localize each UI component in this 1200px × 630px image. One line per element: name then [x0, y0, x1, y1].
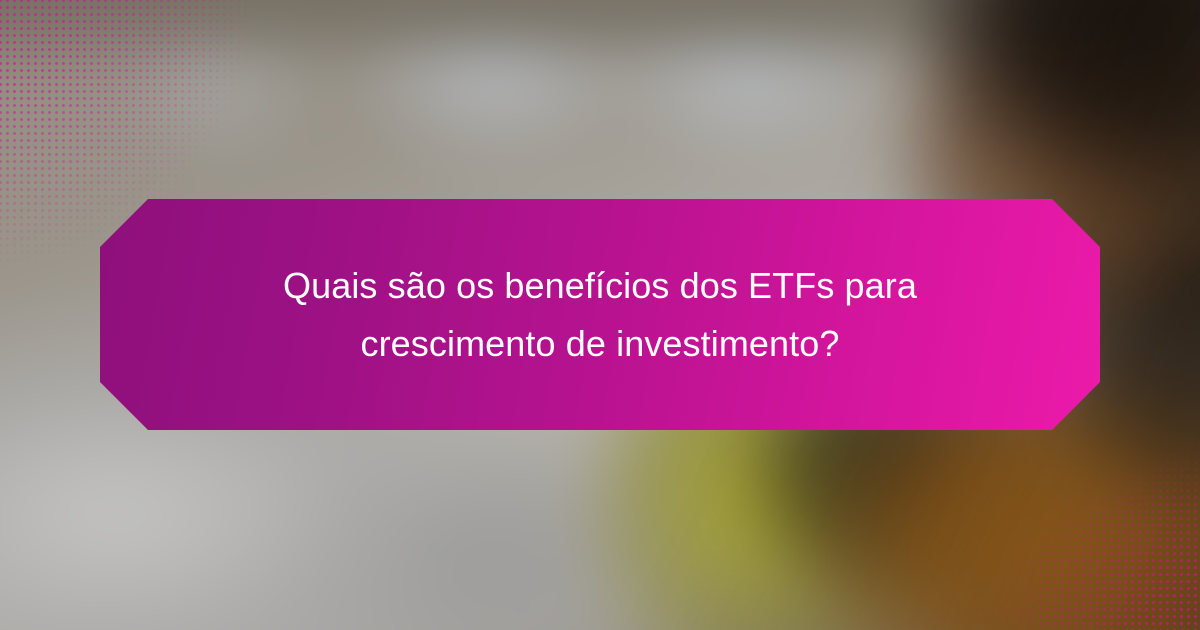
hero-card: Quais são os benefícios dos ETFs para cr…: [0, 0, 1200, 630]
headline-banner: Quais são os benefícios dos ETFs para cr…: [100, 199, 1100, 430]
headline-text: Quais são os benefícios dos ETFs para cr…: [190, 257, 1010, 373]
